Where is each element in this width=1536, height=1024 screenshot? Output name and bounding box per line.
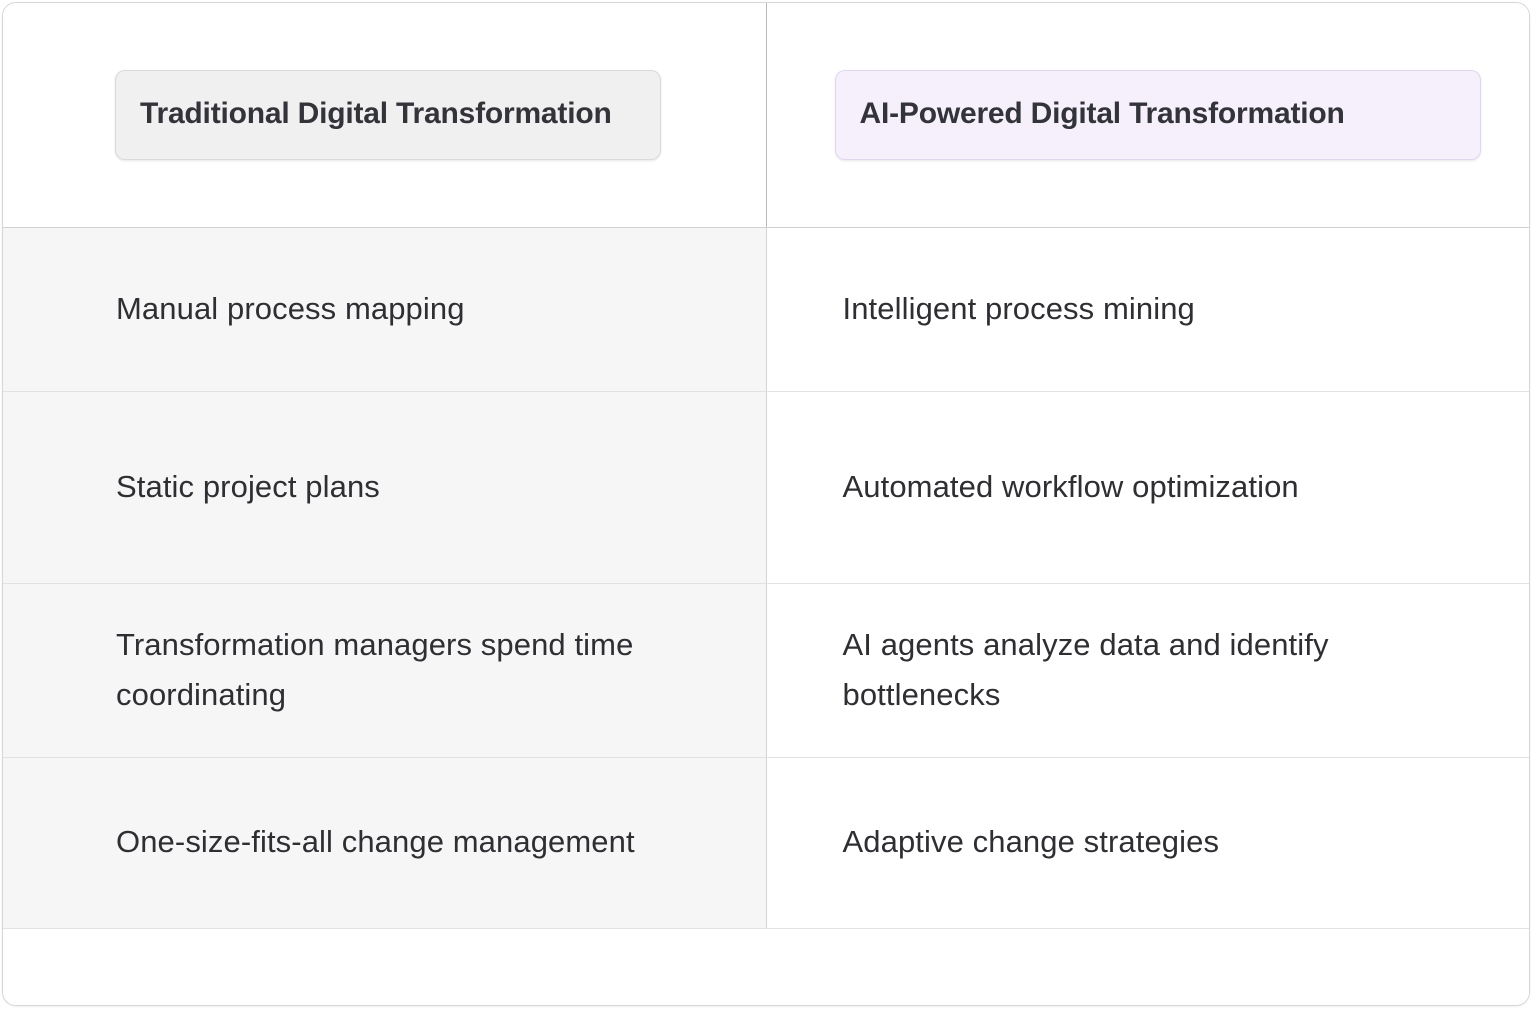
comparison-table-card: Traditional Digital Transformation AI-Po… [2, 2, 1530, 1006]
cell-text: AI agents analyze data and identify bott… [843, 620, 1470, 720]
cell-ai-4: Adaptive change strategies [766, 757, 1529, 928]
table-row: Manual process mapping Intelligent proce… [3, 227, 1529, 391]
comparison-table: Traditional Digital Transformation AI-Po… [3, 3, 1529, 1005]
footer-cell-traditional [3, 928, 766, 1005]
cell-traditional-3: Transformation managers spend time coord… [3, 583, 766, 757]
cell-text: Adaptive change strategies [843, 817, 1470, 867]
table-header-row: Traditional Digital Transformation AI-Po… [3, 3, 1529, 227]
table-footer-row [3, 928, 1529, 1005]
footer-cell-ai [766, 928, 1529, 1005]
header-cell-ai: AI-Powered Digital Transformation [766, 3, 1529, 227]
column-header-badge-traditional: Traditional Digital Transformation [115, 70, 661, 160]
cell-traditional-2: Static project plans [3, 391, 766, 583]
table-row: Static project plans Automated workflow … [3, 391, 1529, 583]
cell-ai-2: Automated workflow optimization [766, 391, 1529, 583]
cell-traditional-1: Manual process mapping [3, 227, 766, 391]
cell-traditional-4: One-size-fits-all change management [3, 757, 766, 928]
cell-text: Static project plans [116, 462, 706, 512]
column-header-badge-ai: AI-Powered Digital Transformation [835, 70, 1481, 160]
cell-text: Transformation managers spend time coord… [116, 620, 706, 720]
cell-text: Intelligent process mining [843, 284, 1470, 334]
cell-text: Manual process mapping [116, 284, 706, 334]
header-cell-traditional: Traditional Digital Transformation [3, 3, 766, 227]
table-row: One-size-fits-all change management Adap… [3, 757, 1529, 928]
cell-text: Automated workflow optimization [843, 462, 1470, 512]
cell-text: One-size-fits-all change management [116, 817, 706, 867]
cell-ai-1: Intelligent process mining [766, 227, 1529, 391]
cell-ai-3: AI agents analyze data and identify bott… [766, 583, 1529, 757]
table-row: Transformation managers spend time coord… [3, 583, 1529, 757]
